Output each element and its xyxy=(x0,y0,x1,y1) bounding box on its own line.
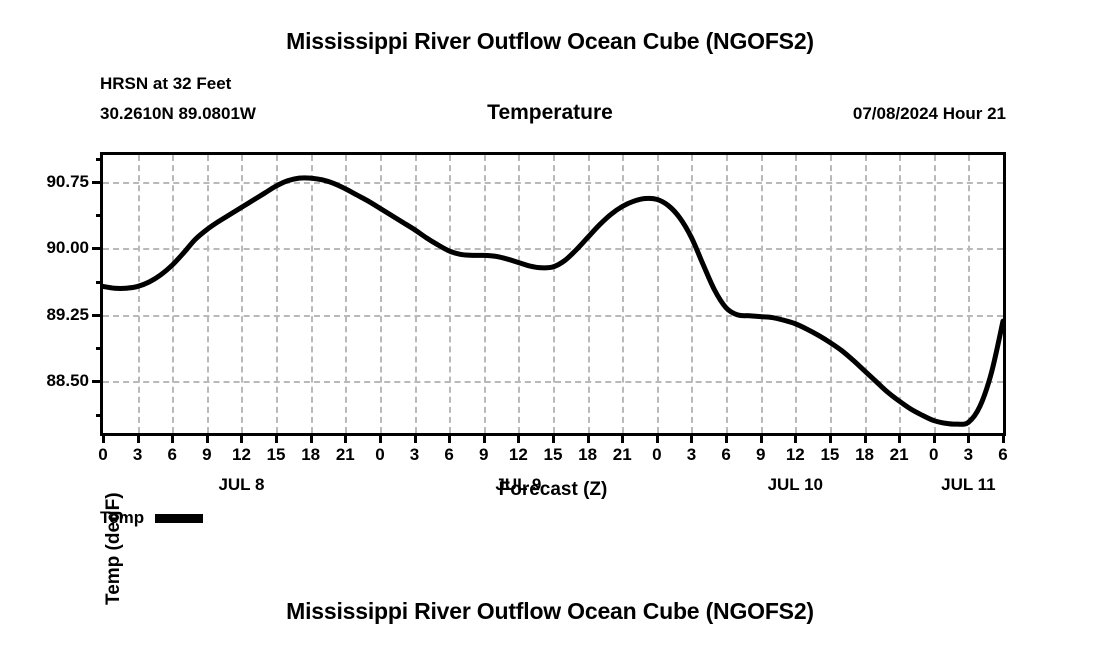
x-gridline xyxy=(380,155,382,433)
x-tick xyxy=(552,433,555,443)
x-tick-label: 21 xyxy=(336,445,355,465)
x-gridline xyxy=(449,155,451,433)
day-label: JUL 10 xyxy=(768,475,823,495)
x-tick xyxy=(483,433,486,443)
x-gridline xyxy=(311,155,313,433)
x-tick-label: 12 xyxy=(786,445,805,465)
x-gridline xyxy=(241,155,243,433)
legend-label: Temp xyxy=(100,508,144,528)
y-tick-label: 90.00 xyxy=(46,238,89,258)
x-tick-label: 15 xyxy=(820,445,839,465)
chart-page: Mississippi River Outflow Ocean Cube (NG… xyxy=(0,0,1100,650)
x-gridline xyxy=(415,155,417,433)
x-tick-label: 3 xyxy=(964,445,973,465)
x-gridline xyxy=(726,155,728,433)
x-tick-label: 12 xyxy=(509,445,528,465)
x-gridline xyxy=(934,155,936,433)
y-tick-major xyxy=(92,181,103,184)
day-label: JUL 8 xyxy=(218,475,264,495)
x-tick-label: 15 xyxy=(267,445,286,465)
x-tick xyxy=(275,433,278,443)
x-tick-label: 21 xyxy=(890,445,909,465)
x-gridline xyxy=(207,155,209,433)
x-tick-label: 9 xyxy=(479,445,488,465)
x-gridline xyxy=(968,155,970,433)
y-tick-label: 90.75 xyxy=(46,172,89,192)
x-tick-label: 9 xyxy=(756,445,765,465)
x-gridline xyxy=(657,155,659,433)
x-tick xyxy=(690,433,693,443)
y-tick-minor xyxy=(96,347,103,350)
plot-area: 90.7590.0089.2588.50 0369121518210369121… xyxy=(100,152,1006,436)
x-tick-label: 3 xyxy=(687,445,696,465)
x-tick xyxy=(517,433,520,443)
x-tick-label: 0 xyxy=(652,445,661,465)
day-label: JUL 11 xyxy=(941,475,996,495)
x-tick-label: 18 xyxy=(855,445,874,465)
x-tick xyxy=(587,433,590,443)
y-tick-major xyxy=(92,380,103,383)
x-tick-label: 9 xyxy=(202,445,211,465)
x-tick xyxy=(864,433,867,443)
x-tick-label: 3 xyxy=(133,445,142,465)
x-tick xyxy=(1002,433,1005,443)
x-tick-label: 21 xyxy=(613,445,632,465)
x-tick xyxy=(379,433,382,443)
x-tick xyxy=(933,433,936,443)
y-tick-minor xyxy=(96,414,103,417)
x-gridline xyxy=(172,155,174,433)
x-tick-label: 0 xyxy=(375,445,384,465)
y-tick-major xyxy=(92,314,103,317)
page-title-top: Mississippi River Outflow Ocean Cube (NG… xyxy=(0,28,1100,55)
x-gridline xyxy=(899,155,901,433)
x-tick xyxy=(725,433,728,443)
x-tick xyxy=(414,433,417,443)
legend: Temp xyxy=(100,508,203,528)
x-tick xyxy=(621,433,624,443)
x-tick xyxy=(206,433,209,443)
x-tick xyxy=(310,433,313,443)
x-tick-label: 12 xyxy=(232,445,251,465)
x-tick xyxy=(137,433,140,443)
x-gridline xyxy=(553,155,555,433)
x-tick-label: 6 xyxy=(167,445,176,465)
page-title-bottom: Mississippi River Outflow Ocean Cube (NG… xyxy=(0,598,1100,625)
x-tick-label: 18 xyxy=(301,445,320,465)
model-run-label: 07/08/2024 Hour 21 xyxy=(853,104,1006,124)
y-tick-minor xyxy=(96,214,103,217)
x-tick-label: 6 xyxy=(998,445,1007,465)
x-gridline xyxy=(761,155,763,433)
x-gridline xyxy=(622,155,624,433)
x-gridline xyxy=(484,155,486,433)
x-tick-label: 18 xyxy=(578,445,597,465)
x-tick-label: 3 xyxy=(410,445,419,465)
x-tick xyxy=(448,433,451,443)
x-tick-label: 15 xyxy=(544,445,563,465)
x-axis-title: Forecast (Z) xyxy=(499,479,608,501)
x-tick xyxy=(898,433,901,443)
plot-inner: 90.7590.0089.2588.50 0369121518210369121… xyxy=(103,155,1003,433)
y-tick-label: 89.25 xyxy=(46,305,89,325)
x-gridline xyxy=(830,155,832,433)
x-tick xyxy=(967,433,970,443)
x-gridline xyxy=(276,155,278,433)
x-tick xyxy=(760,433,763,443)
x-gridline xyxy=(138,155,140,433)
x-gridline xyxy=(691,155,693,433)
x-gridline xyxy=(518,155,520,433)
x-gridline xyxy=(865,155,867,433)
x-tick-label: 0 xyxy=(929,445,938,465)
y-tick-label: 88.50 xyxy=(46,371,89,391)
x-tick xyxy=(171,433,174,443)
y-tick-minor xyxy=(96,158,103,161)
x-tick xyxy=(656,433,659,443)
x-gridline xyxy=(795,155,797,433)
y-tick-major xyxy=(92,247,103,250)
y-tick-minor xyxy=(96,281,103,284)
x-gridline xyxy=(345,155,347,433)
x-tick xyxy=(344,433,347,443)
x-tick-label: 6 xyxy=(444,445,453,465)
x-gridline xyxy=(588,155,590,433)
x-tick xyxy=(240,433,243,443)
x-tick xyxy=(794,433,797,443)
legend-color-swatch xyxy=(155,514,203,523)
x-tick xyxy=(829,433,832,443)
x-tick-label: 6 xyxy=(721,445,730,465)
